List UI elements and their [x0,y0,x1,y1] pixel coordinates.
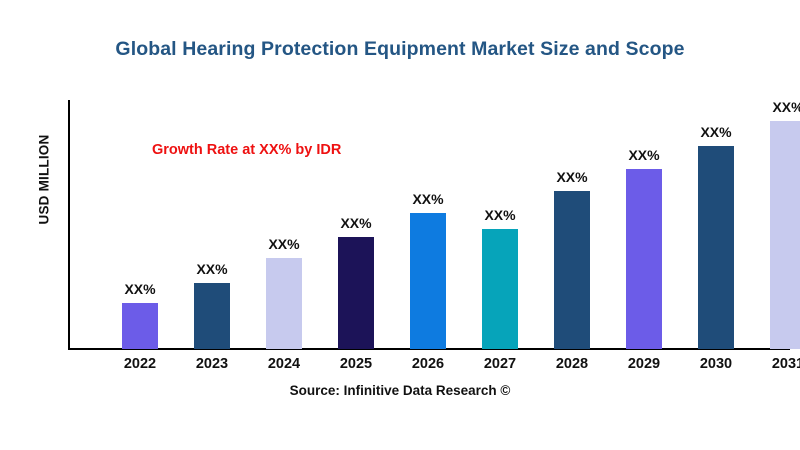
bar-value-label-2028: XX% [536,169,608,185]
x-tick-2022: 2022 [104,356,176,372]
x-tick-2025: 2025 [320,356,392,372]
x-tick-2030: 2030 [680,356,752,372]
y-axis-label: USD MILLION [37,100,52,260]
bar-value-label-2023: XX% [176,261,248,277]
bar-value-label-2029: XX% [608,147,680,163]
bar-2029[interactable] [626,169,662,349]
bar-2028[interactable] [554,191,590,349]
bar-value-label-2026: XX% [392,191,464,207]
bar-2031[interactable] [770,121,800,349]
bar-chart: Global Hearing Protection Equipment Mark… [0,0,800,450]
bar-2030[interactable] [698,146,734,349]
plot-area: XX%XX%XX%XX%XX%XX%XX%XX%XX%XX% [68,100,790,349]
bar-group[interactable]: XX% [320,100,392,349]
bar-group[interactable]: XX% [536,100,608,349]
bar-group[interactable]: XX% [176,100,248,349]
x-tick-2024: 2024 [248,356,320,372]
x-tick-2027: 2027 [464,356,536,372]
bar-value-label-2025: XX% [320,215,392,231]
bar-group[interactable]: XX% [752,100,800,349]
bar-2022[interactable] [122,303,158,349]
bar-group[interactable]: XX% [464,100,536,349]
bar-group[interactable]: XX% [248,100,320,349]
bar-2025[interactable] [338,237,374,349]
bar-group[interactable]: XX% [104,100,176,349]
bar-value-label-2024: XX% [248,236,320,252]
bar-group[interactable]: XX% [608,100,680,349]
x-tick-2026: 2026 [392,356,464,372]
x-tick-2028: 2028 [536,356,608,372]
chart-title: Global Hearing Protection Equipment Mark… [0,38,800,61]
x-tick-2029: 2029 [608,356,680,372]
bar-value-label-2027: XX% [464,207,536,223]
bar-2026[interactable] [410,213,446,349]
x-tick-2031: 2031 [752,356,800,372]
source-note: Source: Infinitive Data Research © [0,383,800,398]
bar-2023[interactable] [194,283,230,349]
bar-group[interactable]: XX% [392,100,464,349]
bar-value-label-2022: XX% [104,281,176,297]
bar-2027[interactable] [482,229,518,349]
bar-2024[interactable] [266,258,302,349]
bar-value-label-2030: XX% [680,124,752,140]
x-tick-2023: 2023 [176,356,248,372]
bar-group[interactable]: XX% [680,100,752,349]
bar-value-label-2031: XX% [752,99,800,115]
